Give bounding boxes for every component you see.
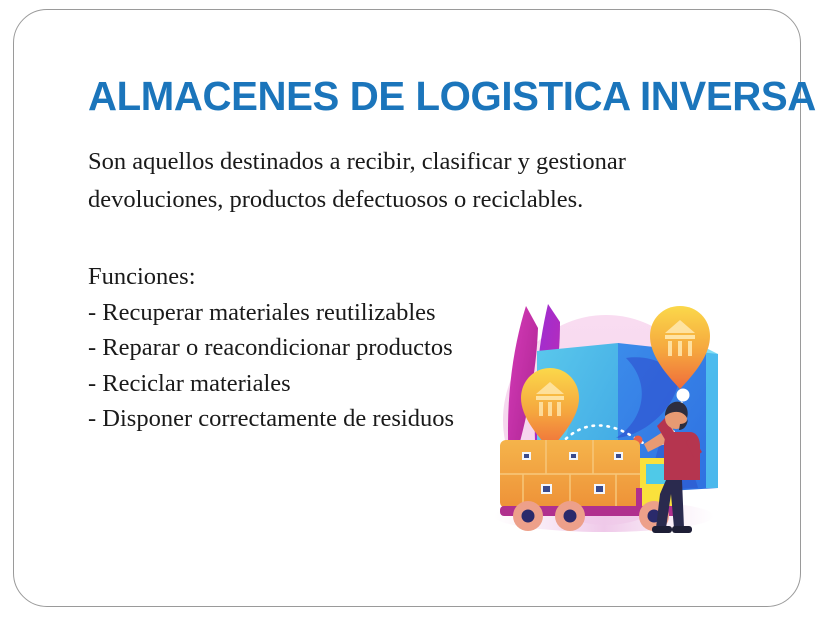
intro-paragraph: Son aquellos destinados a recibir, clasi… bbox=[88, 143, 688, 219]
functions-heading: Funciones: bbox=[88, 259, 518, 295]
page-title: ALMACENES DE LOGISTICA INVERSA bbox=[88, 74, 816, 118]
list-item: - Disponer correctamente de residuos bbox=[88, 401, 518, 437]
functions-list: Funciones: - Recuperar materiales reutil… bbox=[88, 259, 518, 437]
slide-canvas: ALMACENES DE LOGISTICA INVERSA Son aquel… bbox=[0, 0, 828, 621]
list-item: - Reciclar materiales bbox=[88, 366, 518, 402]
route-node-right bbox=[677, 389, 690, 402]
list-item: - Recuperar materiales reutilizables bbox=[88, 295, 518, 331]
list-item: - Reparar o reacondicionar productos bbox=[88, 330, 518, 366]
